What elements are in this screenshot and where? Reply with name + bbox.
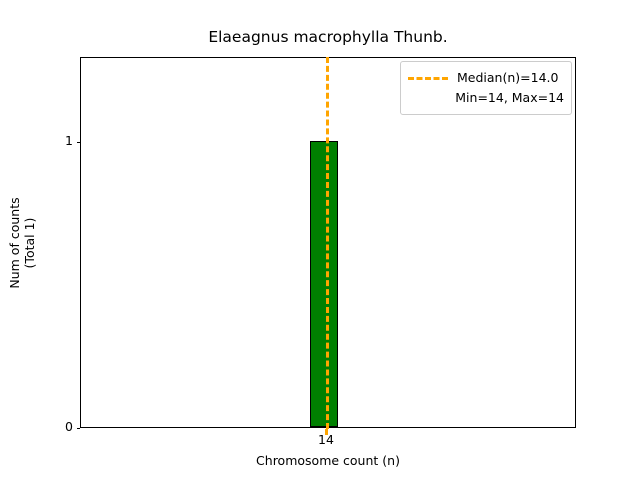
median-line <box>326 57 329 429</box>
chart-title: Elaeagnus macrophylla Thunb. <box>80 30 576 46</box>
dashed-line-icon <box>408 77 448 80</box>
median-line-stub <box>325 429 328 435</box>
legend-item-median: Median(n)=14.0 <box>408 68 564 88</box>
legend-label-minmax: Min=14, Max=14 <box>455 92 564 105</box>
figure-canvas: Elaeagnus macrophylla Thunb. Num of coun… <box>0 0 640 480</box>
legend-label-median: Median(n)=14.0 <box>457 72 558 85</box>
x-tick-label-14: 14 <box>306 434 346 447</box>
legend-item-minmax: Min=14, Max=14 <box>408 88 564 108</box>
y-axis-label: Num of counts (Total 1) <box>7 197 38 288</box>
x-axis-label: Chromosome count (n) <box>80 455 576 468</box>
bar-14 <box>310 141 338 427</box>
y-axis-label-line1: Num of counts <box>7 197 22 288</box>
y-axis-label-line2: (Total 1) <box>22 197 37 288</box>
legend[interactable]: Median(n)=14.0 Min=14, Max=14 <box>400 61 572 115</box>
y-tick-label-0: 0 <box>48 421 73 434</box>
y-axis-label-container: Num of counts (Total 1) <box>0 57 44 428</box>
y-tick-label-1: 1 <box>48 135 73 148</box>
